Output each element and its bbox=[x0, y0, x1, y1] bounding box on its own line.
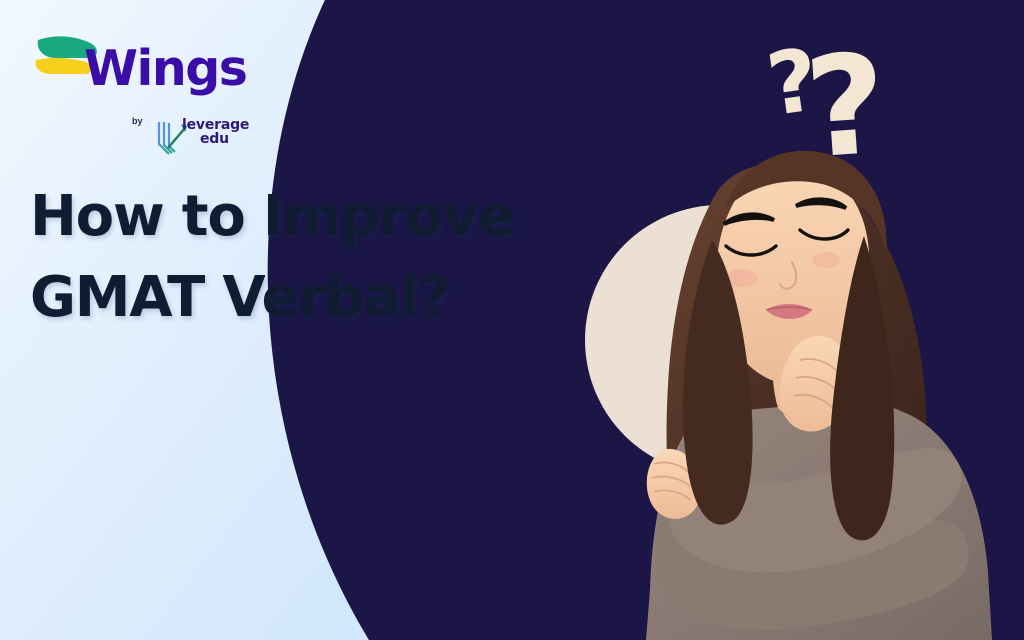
blush-right bbox=[812, 252, 840, 268]
page-title: How to Improve GMAT Verbal? bbox=[30, 176, 600, 338]
woman-thinking-illustration bbox=[600, 120, 1024, 640]
leverage-edu-wordmark: leverage edu bbox=[182, 118, 249, 147]
headline-line-2: GMAT Verbal? bbox=[30, 257, 600, 338]
by-label: by bbox=[132, 116, 143, 126]
headline-line-1: How to Improve bbox=[30, 176, 600, 257]
wings-logo[interactable]: Wings by leverage edu bbox=[22, 26, 237, 138]
leverage-text: leverage bbox=[182, 118, 249, 132]
edu-text: edu bbox=[200, 132, 249, 146]
banner-graphic: ? ? bbox=[0, 0, 1024, 640]
wings-wordmark: Wings bbox=[84, 40, 246, 97]
